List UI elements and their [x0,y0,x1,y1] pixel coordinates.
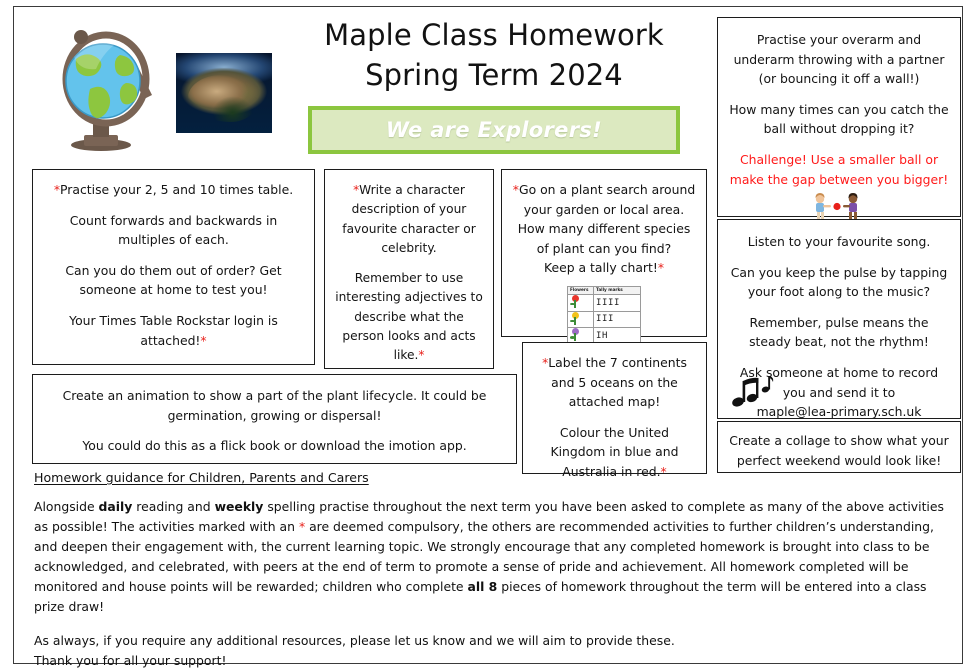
activity-box-times-tables: *Practise your 2, 5 and 10 times table. … [32,169,315,365]
globe-icon [46,17,156,157]
tally-header-marks: Tally marks [594,286,641,294]
animation-line-2: You could do this as a flick book or dow… [42,436,507,456]
guidance-body: Alongside daily reading and weekly spell… [34,497,952,671]
sheet-content: Maple Class Homework Spring Term 2024 We… [14,7,962,663]
tally-marks-cell: III [594,311,641,328]
yellow-flower-icon [570,312,580,325]
topic-banner: We are Explorers! [308,106,680,154]
homework-sheet-page: Maple Class Homework Spring Term 2024 We… [13,6,963,664]
activity-box-character-description: *Write a character description of your f… [324,169,494,369]
music-notes-icon [730,374,774,410]
activity-box-plant-search: *Go on a plant search around your garden… [501,169,707,337]
flower-cell [568,294,594,311]
pe-line-2: How many times can you catch the ball wi… [727,100,951,139]
title-line-2: Spring Term 2024 [299,55,689,95]
collage-line-1: Create a collage to show what your perfe… [727,431,951,470]
flower-cell [568,311,594,328]
continents-line-1: *Label the 7 continents and 5 oceans on … [532,353,697,412]
red-tulip-icon [570,295,580,308]
tally-chart-image: Flowers Tally marks IIII III IH [567,286,641,345]
activity-box-pe-throwing: Practise your overarm and underarm throw… [717,17,961,217]
times-tables-line-1: *Practise your 2, 5 and 10 times table. [42,180,305,200]
tally-chart-header-row: Flowers Tally marks [568,286,641,294]
tally-marks-cell: IIII [594,294,641,311]
tally-header-flowers: Flowers [568,286,594,294]
topic-banner-inner: We are Explorers! [312,110,676,150]
title-line-1: Maple Class Homework [299,15,689,55]
header-images [32,11,292,161]
music-line-2: Can you keep the pulse by tapping your f… [727,263,951,302]
continents-line-2: Colour the United Kingdom in blue and Au… [532,423,697,482]
character-line-2: Remember to use interesting adjectives t… [334,269,484,365]
asterisk-icon: * [661,464,667,479]
purple-flower-icon [570,328,580,341]
tally-row: III [568,311,641,328]
activity-box-continents-oceans: *Label the 7 continents and 5 oceans on … [522,342,707,474]
character-line-1: *Write a character description of your f… [334,181,484,258]
times-tables-line-3: Can you do them out of order? Get someon… [42,261,305,300]
earth-australia-photo [176,53,272,133]
asterisk-icon: * [418,348,424,362]
asterisk-icon: * [200,333,206,348]
plants-line-2: How many different species of plant can … [511,219,697,258]
animation-line-1: Create an animation to show a part of th… [42,386,507,425]
pe-challenge-line: Challenge! Use a smaller ball or make th… [727,150,951,189]
times-tables-line-2: Count forwards and backwards in multiple… [42,211,305,250]
activity-box-collage: Create a collage to show what your perfe… [717,421,961,473]
pe-line-1: Practise your overarm and underarm throw… [727,30,951,89]
tally-row: IIII [568,294,641,311]
activity-box-animation: Create an animation to show a part of th… [32,374,517,464]
times-tables-line-4: Your Times Table Rockstar login is attac… [42,311,305,350]
asterisk-icon: * [658,260,664,275]
plants-line-1: *Go on a plant search around your garden… [511,180,697,219]
guidance-paragraph-1: Alongside daily reading and weekly spell… [34,497,952,618]
page-title: Maple Class Homework Spring Term 2024 [299,15,689,95]
music-line-1: Listen to your favourite song. [727,232,951,252]
music-line-3: Remember, pulse means the steady beat, n… [727,313,951,352]
activity-box-music-pulse: Listen to your favourite song. Can you k… [717,219,961,419]
guidance-paragraph-2: As always, if you require any additional… [34,631,952,671]
guidance-heading: Homework guidance for Children, Parents … [34,470,369,485]
plants-line-3: Keep a tally chart!* [511,258,697,278]
topic-banner-label: We are Explorers! [386,118,602,142]
